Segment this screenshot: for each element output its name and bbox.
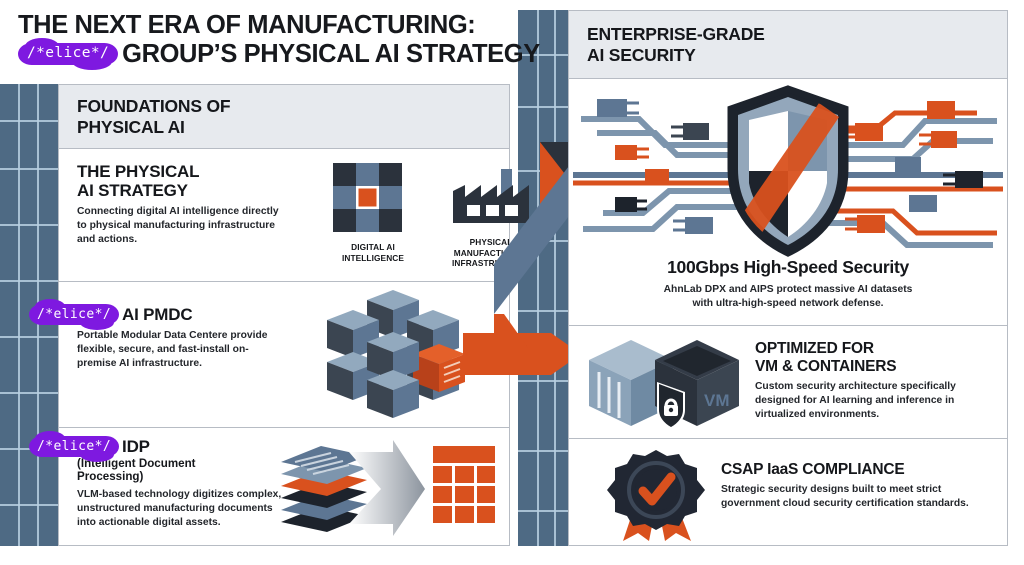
vm-container-lock-icon: VM <box>583 336 745 432</box>
page-title: THE NEXT ERA OF MANUFACTURING: /*elice*/… <box>18 4 510 76</box>
right-panel-title-line-2: AI SECURITY <box>587 45 989 65</box>
left-panel-header: FOUNDATIONS OF PHYSICAL AI <box>59 85 509 149</box>
vm-body: Custom security architecture specificall… <box>755 380 995 422</box>
shield-circuit-icon <box>573 87 1003 255</box>
pmdc-title: AI PMDC <box>122 305 192 324</box>
strategy-title-line-1: THE PHYSICAL <box>77 162 287 181</box>
speed-body-line-1: AhnLab DPX and AIPS protect massive AI d… <box>583 283 993 297</box>
csap-title: CSAP IaaS COMPLIANCE <box>721 461 995 479</box>
right-panel-title-line-1: ENTERPRISE-GRADE <box>587 24 989 44</box>
title-line-1: THE NEXT ERA OF MANUFACTURING: <box>18 12 510 39</box>
right-row-vm: VM OPTIMIZED FOR VM & CONTAINERS Custom … <box>569 326 1007 438</box>
elice-logo-pmdc: /*elice*/ <box>29 304 119 325</box>
digital-ai-caption-1: DIGITAL AI <box>327 242 419 253</box>
elice-logo-idp: /*elice*/ <box>29 436 119 457</box>
left-panel-title-line-2: PHYSICAL AI <box>77 117 491 137</box>
strategy-title-line-2: AI STRATEGY <box>77 181 287 200</box>
idp-body: VLM-based technology digitizes complex, … <box>77 488 287 530</box>
idp-paren-line-2: Processing) <box>77 470 287 483</box>
right-row-speed: 100Gbps High-Speed Security AhnLab DPX a… <box>569 79 1007 325</box>
digital-ai-caption-2: INTELLIGENCE <box>327 253 419 264</box>
speed-title: 100Gbps High-Speed Security <box>583 257 993 278</box>
left-panel: FOUNDATIONS OF PHYSICAL AI THE PHYSICAL … <box>58 84 510 546</box>
elice-logo: /*elice*/ <box>18 43 118 65</box>
right-panel: ENTERPRISE-GRADE AI SECURITY <box>568 10 1008 546</box>
title-line-2-text: GROUP’S PHYSICAL AI STRATEGY <box>122 41 540 68</box>
left-row-idp: /*elice*/ IDP (Intelligent Document Proc… <box>59 428 509 547</box>
csap-body: Strategic security designs built to meet… <box>721 483 995 511</box>
right-panel-header: ENTERPRISE-GRADE AI SECURITY <box>569 11 1007 79</box>
vm-cube-label: VM <box>704 391 730 410</box>
vm-title-line-2: VM & CONTAINERS <box>755 358 995 376</box>
title-line-2: /*elice*/ GROUP’S PHYSICAL AI STRATEGY <box>18 41 510 68</box>
digital-ai-icon <box>327 161 419 239</box>
speed-body-line-2: with ultra-high-speed network defense. <box>583 297 993 311</box>
idp-title: IDP <box>122 437 150 456</box>
left-panel-title-line-1: FOUNDATIONS OF <box>77 96 491 116</box>
right-row-csap: CSAP IaaS COMPLIANCE Strategic security … <box>569 439 1007 546</box>
infographic-root: THE NEXT ERA OF MANUFACTURING: /*elice*/… <box>0 0 1024 565</box>
strategy-body: Connecting digital AI intelligence direc… <box>77 205 287 247</box>
left-row-strategy: THE PHYSICAL AI STRATEGY Connecting digi… <box>59 149 509 281</box>
idp-document-flow-icon <box>275 436 501 542</box>
certified-badge-icon <box>605 449 715 541</box>
vm-title-line-1: OPTIMIZED FOR <box>755 340 995 358</box>
pmdc-body: Portable Modular Data Centere provide fl… <box>77 329 277 371</box>
left-row-pmdc: /*elice*/ AI PMDC Portable Modular Data … <box>59 282 509 427</box>
